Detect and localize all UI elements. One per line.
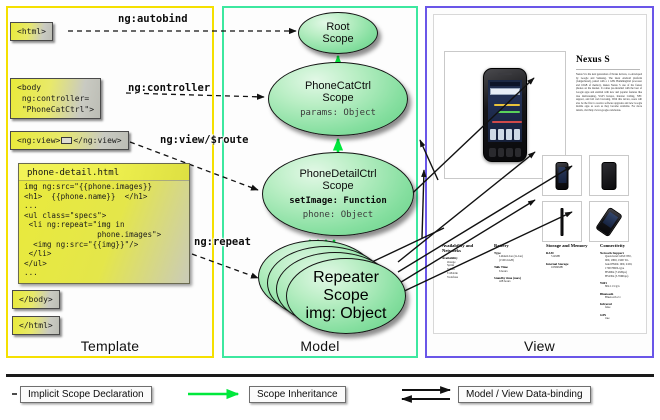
- scope-root-title-line1: Root: [326, 21, 349, 33]
- thumbnail-image-0: [556, 162, 569, 190]
- view-thumbnail-2[interactable]: [542, 201, 582, 242]
- ngview-close-tag: </ng:view>: [73, 136, 121, 145]
- phone-speaker: [498, 73, 512, 75]
- spec-head-0: Availability and Networks: [442, 243, 488, 254]
- code-box-body: <body ng:controller= "PhoneCatCtrl">: [10, 78, 101, 119]
- scope-repeater-stack: Repeater Scope img: Object: [258, 238, 406, 336]
- legend-label-inheritance: Scope Inheritance: [249, 386, 346, 403]
- spec-val-1-0-1: (1500 mAH): [494, 259, 542, 263]
- phone-hero-image: [483, 68, 527, 162]
- edge-label-ng-repeat: ng:repeat: [194, 236, 251, 248]
- scope-phonedetailctrl-prop-phone: phone: Object: [303, 210, 373, 221]
- scope-phonecatctrl-title-line1: PhoneCatCtrl: [305, 80, 371, 92]
- spec-val-0-0-4: Vodafone: [442, 276, 488, 280]
- phone-searchbox: [490, 88, 520, 95]
- view-thumbnail-0[interactable]: [542, 155, 582, 196]
- view-title-divider: [576, 69, 640, 70]
- thumbnail-image-1: [602, 162, 617, 190]
- code-box-html: <html>: [10, 22, 53, 41]
- phone-wallpaper-line-2: [498, 111, 520, 113]
- legend-item-databinding: Model / View Data-binding: [458, 382, 591, 406]
- scope-phonecatctrl-title: PhoneCatCtrl Scope: [305, 80, 371, 105]
- code-box-ngview: <ng:view></ng:view>: [10, 131, 129, 150]
- edge-label-ng-controller: ng:controller: [128, 82, 210, 94]
- spec-val-3-1-0: 802.11 b/g/n: [600, 285, 646, 289]
- spec-head-1: Battery: [494, 243, 542, 248]
- spec-val-3-3-0: false: [600, 306, 646, 310]
- phone-wallpaper-line-1: [494, 104, 520, 106]
- thumbnail-image-3: [595, 206, 623, 237]
- ngview-slot-icon: [61, 137, 72, 144]
- edge-label-ng-view-route: ng:view/$route: [160, 134, 249, 146]
- ngview-open-tag: <ng:view>: [17, 136, 60, 145]
- note-phone-detail-html: phone-detail.html img ng:src="{{phone.im…: [18, 163, 190, 284]
- view-thumbnail-1[interactable]: [589, 155, 629, 196]
- scope-repeater-title: Repeater Scope: [313, 269, 379, 305]
- legend: Implicit Scope Declaration Scope Inherit…: [6, 382, 654, 412]
- scope-repeater-title-line1: Repeater: [313, 269, 379, 286]
- panel-label-view: View: [427, 338, 652, 354]
- spec-val-2-1-0: 16384MB: [546, 266, 598, 270]
- scope-phonedetailctrl: PhoneDetailCtrl Scope setImage: Function…: [262, 152, 414, 236]
- spec-column-storage: Storage and Memory RAM 512MB Internal St…: [546, 243, 598, 270]
- phone-statusbar: [490, 82, 520, 86]
- scope-repeater: Repeater Scope img: Object: [286, 258, 406, 334]
- scope-phonecatctrl: PhoneCatCtrl Scope params: Object: [268, 62, 408, 136]
- panel-label-template: Template: [8, 338, 212, 354]
- spec-column-battery: Battery Type Lithium Ion (Li-Ion) (1500 …: [494, 243, 542, 284]
- phone-softkeys: [489, 148, 521, 157]
- spec-head-3: Connectivity: [600, 243, 646, 248]
- legend-label-databinding: Model / View Data-binding: [458, 386, 591, 403]
- scope-root: Root Scope: [298, 12, 378, 54]
- scope-phonecatctrl-prop-params: params: Object: [300, 108, 376, 119]
- phone-app-dock: [490, 129, 520, 140]
- view-page-title: Nexus S: [576, 55, 642, 65]
- scope-repeater-title-line2: Scope: [323, 287, 368, 304]
- spec-column-availability: Availability and Networks Availability O…: [442, 243, 488, 280]
- scope-root-title: Root Scope: [322, 21, 353, 46]
- scope-phonedetailctrl-title-line1: PhoneDetailCtrl: [299, 168, 376, 180]
- phone-screen: [488, 80, 522, 142]
- legend-item-implicit: Implicit Scope Declaration: [20, 382, 152, 406]
- scope-repeater-prop-img: img: Object: [306, 305, 387, 323]
- legend-item-inheritance: Scope Inheritance: [249, 382, 346, 406]
- scope-phonedetailctrl-title-line2: Scope: [322, 180, 353, 192]
- phone-wallpaper-line-3: [492, 121, 522, 123]
- spec-val-3-4-0: true: [600, 317, 646, 321]
- spec-val-3-0-5: HSUPA (5.76Mbps): [600, 275, 646, 279]
- scope-phonecatctrl-title-line2: Scope: [322, 92, 353, 104]
- spec-val-1-1-0: 6 hours: [494, 270, 542, 274]
- view-thumbnail-3[interactable]: [589, 201, 629, 242]
- view-page-description: Nexus S is the next generation of Nexus …: [576, 73, 642, 113]
- edge-bind-hero: [422, 170, 424, 238]
- code-box-body-end: </body>: [12, 290, 60, 309]
- spec-head-2: Storage and Memory: [546, 243, 598, 248]
- spec-val-2-0-0: 512MB: [546, 255, 598, 259]
- legend-divider: [6, 374, 654, 377]
- diagram-root: Template Model View <html> <body ng:cont…: [0, 0, 660, 420]
- edge-label-ng-autobind: ng:autobind: [118, 13, 188, 25]
- view-rendered-page: Nexus S Nexus S is the next generation o…: [433, 14, 647, 334]
- view-specs-table: Availability and Networks Availability O…: [442, 243, 642, 327]
- thumbnail-image-2: [561, 208, 564, 236]
- legend-label-implicit: Implicit Scope Declaration: [20, 386, 152, 403]
- spec-column-connectivity: Connectivity Network Support Quad-band G…: [600, 243, 646, 321]
- spec-val-3-2-0: Bluetooth 2.1: [600, 296, 646, 300]
- spec-val-1-2-0: 428 hours: [494, 280, 542, 284]
- note-title: phone-detail.html: [19, 164, 189, 180]
- scope-phonedetailctrl-prop-setimage: setImage: Function: [289, 196, 387, 207]
- code-box-html-end: </html>: [12, 316, 60, 335]
- panel-label-model: Model: [224, 338, 416, 354]
- note-code: img ng:src="{{phone.images}} <h1> {{phon…: [19, 180, 189, 283]
- scope-root-title-line2: Scope: [322, 33, 353, 45]
- scope-phonedetailctrl-title: PhoneDetailCtrl Scope: [299, 168, 376, 193]
